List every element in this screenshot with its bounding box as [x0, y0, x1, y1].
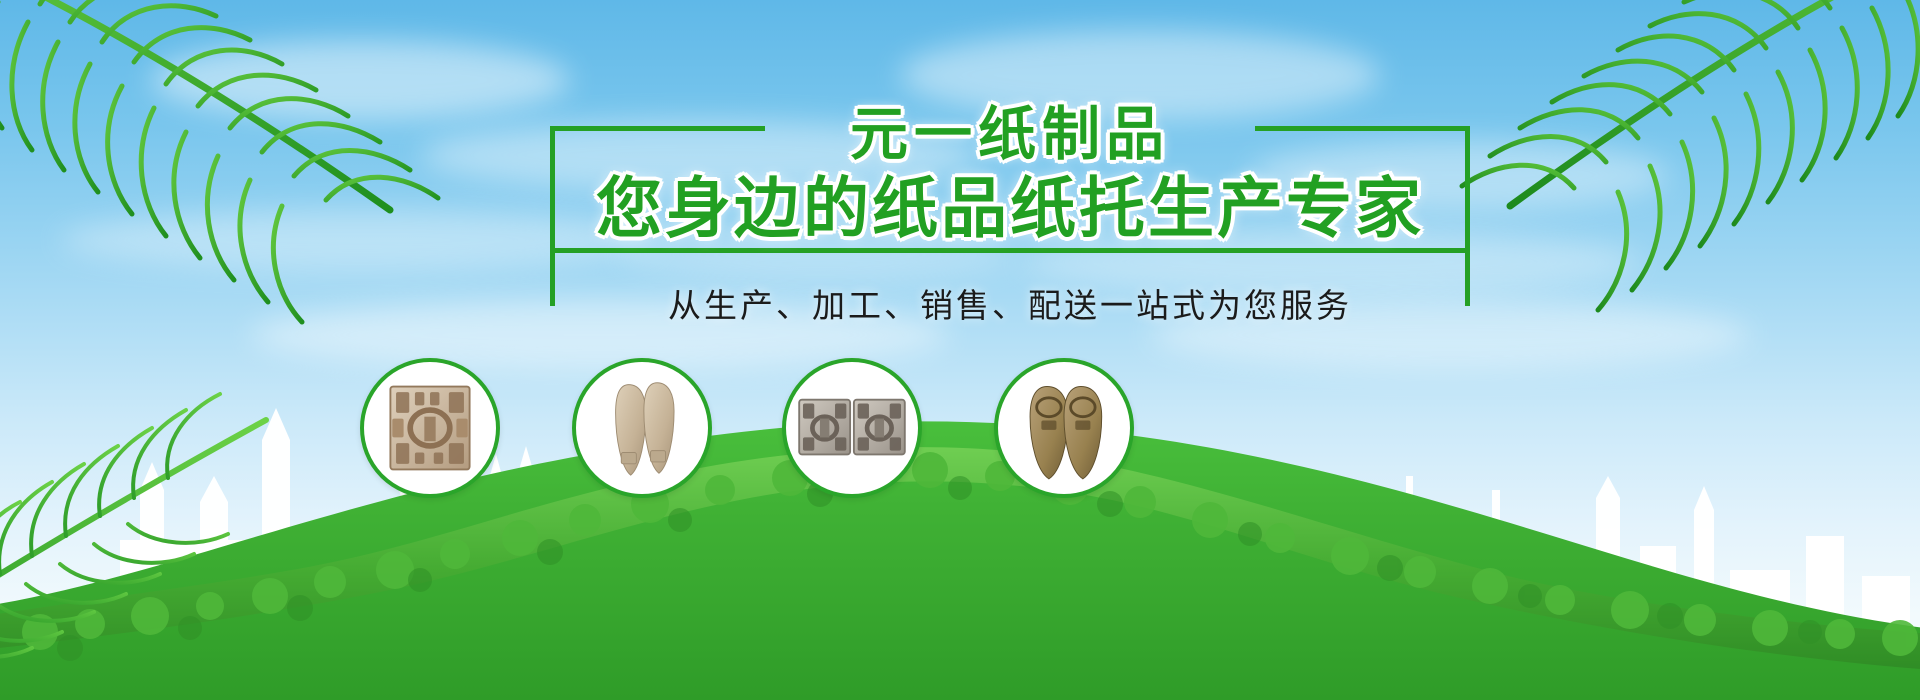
promo-banner: 元一纸制品 您身边的纸品纸托生产专家 从生产、加工、销售、配送一站式为您服务 — [0, 0, 1920, 700]
product-alt-3: 两件式纸托托盘 — [0, 0, 1, 1]
product-alt-1: 方形纸托包装内衬 — [0, 0, 1, 1]
headline-frame: 元一纸制品 您身边的纸品纸托生产专家 — [560, 100, 1460, 253]
frame-bar-bottom — [550, 248, 1465, 253]
brand-title: 元一纸制品 — [560, 106, 1460, 170]
frame-bar-right — [1465, 126, 1470, 306]
product-circle-3[interactable] — [782, 358, 922, 498]
frame-bar-left — [550, 126, 555, 306]
subtitle-text: 从生产、加工、销售、配送一站式为您服务 — [560, 279, 1460, 327]
green-grass-hill — [0, 280, 1920, 700]
product-alt-2: 纸浆模塑鞋撑一对 — [0, 0, 1, 1]
molded-pulp-tray-square-icon — [364, 362, 496, 494]
product-circle-1[interactable] — [360, 358, 500, 498]
tagline-title: 您身边的纸品纸托生产专家 — [560, 174, 1460, 243]
cloud-icon — [150, 40, 570, 120]
headline-block: 元一纸制品 您身边的纸品纸托生产专家 从生产、加工、销售、配送一站式为您服务 — [560, 100, 1460, 327]
molded-pulp-shoe-inserts-icon — [576, 362, 708, 494]
product-circle-4[interactable] — [994, 358, 1134, 498]
molded-pulp-tray-pair-icon — [786, 362, 918, 494]
molded-pulp-shoe-forms-icon — [998, 362, 1130, 494]
product-alt-4: 纸浆模塑鞋楦一对 — [0, 0, 1, 1]
product-circle-2[interactable] — [572, 358, 712, 498]
